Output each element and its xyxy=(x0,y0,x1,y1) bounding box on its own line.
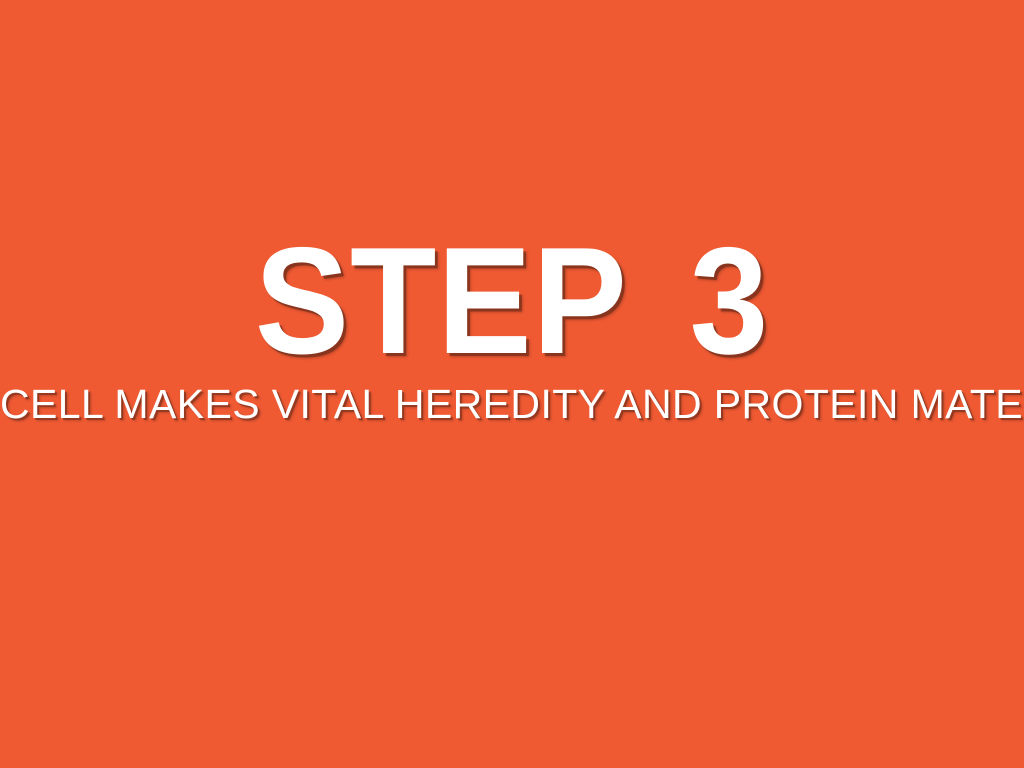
slide-title: STEP 3 xyxy=(36,229,988,375)
slide-subtitle: CELL MAKES VITAL HEREDITY AND PROTEIN MA… xyxy=(0,382,1024,427)
slide-text-block: STEP 3 CELL MAKES VITAL HEREDITY AND PRO… xyxy=(0,0,1024,768)
presentation-slide: STEP 3 CELL MAKES VITAL HEREDITY AND PRO… xyxy=(0,0,1024,768)
